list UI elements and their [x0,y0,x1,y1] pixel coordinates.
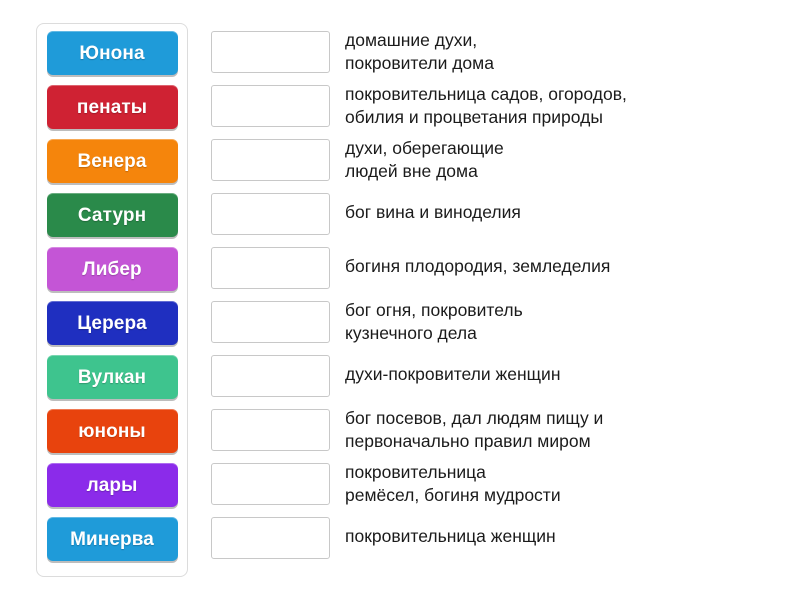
draggable-tile[interactable]: Юнона [47,31,178,75]
draggable-tile[interactable]: пенаты [47,85,178,129]
definition-row: богиня плодородия, земледелия [211,243,771,297]
draggable-tile-label: Минерва [70,530,154,549]
definition-row: бог вина и виноделия [211,189,771,243]
draggable-terms-panel: ЮнонапенатыВенераСатурнЛиберЦерераВулкан… [36,23,188,577]
definition-row: домашние духи, покровители дома [211,27,771,81]
draggable-tile-label: Сатурн [78,206,146,225]
definition-row: духи-покровители женщин [211,351,771,405]
draggable-tile-label: лары [87,476,138,495]
draggable-tile[interactable]: Либер [47,247,178,291]
definition-row: покровительница ремёсел, богиня мудрости [211,459,771,513]
draggable-tile-label: Церера [77,314,147,333]
answer-dropbox[interactable] [211,301,330,343]
answer-dropbox[interactable] [211,355,330,397]
answer-dropbox[interactable] [211,517,330,559]
draggable-tile-label: пенаты [77,98,147,117]
draggable-tile[interactable]: Минерва [47,517,178,561]
definition-row: покровительница женщин [211,513,771,567]
definition-text: покровительница садов, огородов, обилия … [345,81,771,129]
definition-text: покровительница женщин [345,513,771,548]
answer-dropbox[interactable] [211,247,330,289]
answer-dropbox[interactable] [211,193,330,235]
draggable-tile[interactable]: Сатурн [47,193,178,237]
draggable-tile-label: юноны [78,422,146,441]
definition-text: духи-покровители женщин [345,351,771,386]
definition-text: бог огня, покровитель кузнечного дела [345,297,771,345]
draggable-tile[interactable]: юноны [47,409,178,453]
definition-text: духи, оберегающие людей вне дома [345,135,771,183]
definition-text: бог вина и виноделия [345,189,771,224]
answer-dropbox[interactable] [211,139,330,181]
answer-dropbox[interactable] [211,463,330,505]
draggable-tile-label: Вулкан [78,368,146,387]
definition-row: бог огня, покровитель кузнечного дела [211,297,771,351]
answer-dropbox[interactable] [211,85,330,127]
draggable-tile[interactable]: Венера [47,139,178,183]
draggable-tile[interactable]: Церера [47,301,178,345]
definition-text: бог посевов, дал людям пищу и первоначал… [345,405,771,453]
draggable-tile-label: Либер [82,260,141,279]
draggable-tile-label: Венера [77,152,146,171]
definition-text: домашние духи, покровители дома [345,27,771,75]
definition-text: богиня плодородия, земледелия [345,243,771,278]
definition-rows-panel: домашние духи, покровители домапокровите… [211,27,771,567]
answer-dropbox[interactable] [211,409,330,451]
definition-row: покровительница садов, огородов, обилия … [211,81,771,135]
draggable-tile[interactable]: лары [47,463,178,507]
answer-dropbox[interactable] [211,31,330,73]
draggable-tile-label: Юнона [79,44,144,63]
definition-row: духи, оберегающие людей вне дома [211,135,771,189]
definition-text: покровительница ремёсел, богиня мудрости [345,459,771,507]
definition-row: бог посевов, дал людям пищу и первоначал… [211,405,771,459]
draggable-tile[interactable]: Вулкан [47,355,178,399]
